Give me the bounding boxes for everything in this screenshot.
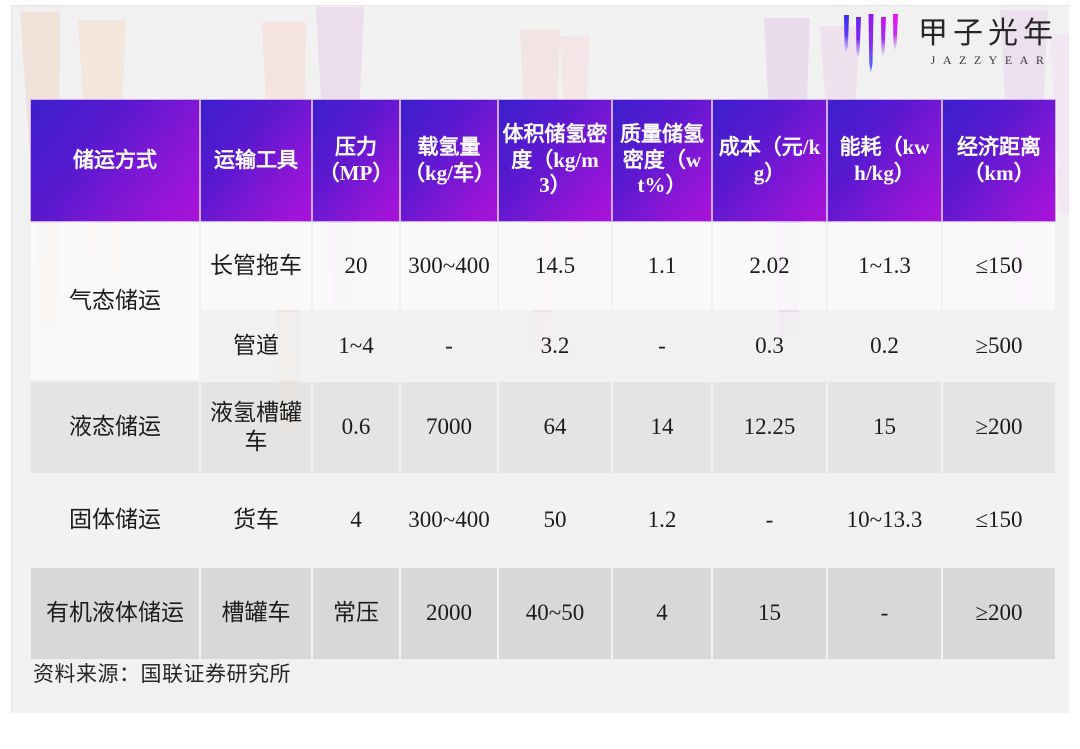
table-cell: 0.3 xyxy=(713,312,826,380)
table-cell: 2.02 xyxy=(713,223,826,310)
col-header-storage-mode: 储运方式 xyxy=(31,100,199,221)
col-header-hydrogen-load: 载氢量（kg/车） xyxy=(401,100,497,221)
table-cell: 1.2 xyxy=(613,475,711,566)
col-header-pressure: 压力（MP） xyxy=(313,100,399,221)
table-cell: - xyxy=(401,312,497,380)
table-cell: 长管拖车 xyxy=(201,223,311,310)
table-cell: 管道 xyxy=(201,312,311,380)
table-cell: 12.25 xyxy=(713,382,826,473)
table-cell: 0.2 xyxy=(828,312,941,380)
table-cell: 40~50 xyxy=(499,568,611,659)
table-cell: ≤150 xyxy=(943,223,1055,310)
table-cell: 15 xyxy=(828,382,941,473)
logo-en-name: JAZZYEAR xyxy=(925,53,1052,68)
table-row: 固体储运货车4300~400501.2-10~13.3≤150 xyxy=(31,475,1055,566)
table-cell: 0.6 xyxy=(313,382,399,473)
table-cell: 1~4 xyxy=(313,312,399,380)
table-row: 气态储运长管拖车20300~40014.51.12.021~1.3≤150 xyxy=(31,223,1055,310)
table-cell: ≤150 xyxy=(943,475,1055,566)
col-header-volume-density: 体积储氢密度（kg/m3） xyxy=(499,100,611,221)
table-cell: ≥500 xyxy=(943,312,1055,380)
cell-storage-mode: 固体储运 xyxy=(31,475,199,566)
col-header-economic-distance: 经济距离（km） xyxy=(943,100,1055,221)
col-header-cost: 成本（元/kg） xyxy=(713,100,826,221)
hydrogen-storage-table: 储运方式 运输工具 压力（MP） 载氢量（kg/车） 体积储氢密度（kg/m3）… xyxy=(29,98,1057,661)
cell-storage-mode: 液态储运 xyxy=(31,382,199,473)
jazzyear-logo-mark-icon xyxy=(838,12,904,74)
cell-storage-mode: 有机液体储运 xyxy=(31,568,199,659)
table-cell: - xyxy=(713,475,826,566)
page-hairline-top xyxy=(11,5,1069,6)
table-cell: 槽罐车 xyxy=(201,568,311,659)
slide-canvas: 甲子光年 JAZZYEAR 储运方式 运输工具 压力（MP） 载氢量（kg/车）… xyxy=(0,0,1080,749)
table-cell: 20 xyxy=(313,223,399,310)
table-cell: - xyxy=(613,312,711,380)
table-cell: 50 xyxy=(499,475,611,566)
table-cell: ≥200 xyxy=(943,568,1055,659)
page-edge-bottom xyxy=(0,713,1080,749)
table-cell: 300~400 xyxy=(401,223,497,310)
col-header-transport-tool: 运输工具 xyxy=(201,100,311,221)
cell-storage-mode: 气态储运 xyxy=(31,223,199,380)
table-cell: 14 xyxy=(613,382,711,473)
table-row: 液态储运液氢槽罐车0.67000641412.2515≥200 xyxy=(31,382,1055,473)
table-body: 气态储运长管拖车20300~40014.51.12.021~1.3≤150管道1… xyxy=(31,223,1055,659)
table-header: 储运方式 运输工具 压力（MP） 载氢量（kg/车） 体积储氢密度（kg/m3）… xyxy=(31,100,1055,221)
table-cell: 10~13.3 xyxy=(828,475,941,566)
page-edge-right xyxy=(1069,0,1080,749)
table-cell: 64 xyxy=(499,382,611,473)
table-cell: 常压 xyxy=(313,568,399,659)
col-header-energy-consumption: 能耗（kwh/kg） xyxy=(828,100,941,221)
table-cell: 7000 xyxy=(401,382,497,473)
table-cell: - xyxy=(828,568,941,659)
table-cell: 4 xyxy=(313,475,399,566)
hydrogen-storage-table-wrap: 储运方式 运输工具 压力（MP） 载氢量（kg/车） 体积储氢密度（kg/m3）… xyxy=(29,98,1047,661)
table-cell: 4 xyxy=(613,568,711,659)
page-edge-left xyxy=(0,0,11,749)
table-cell: 14.5 xyxy=(499,223,611,310)
table-cell: 货车 xyxy=(201,475,311,566)
table-header-row: 储运方式 运输工具 压力（MP） 载氢量（kg/车） 体积储氢密度（kg/m3）… xyxy=(31,100,1055,221)
table-cell: 1~1.3 xyxy=(828,223,941,310)
page-hairline-left xyxy=(11,5,12,713)
col-header-mass-density: 质量储氢密度（wt%） xyxy=(613,100,711,221)
table-cell: 2000 xyxy=(401,568,497,659)
table-cell: ≥200 xyxy=(943,382,1055,473)
table-row: 有机液体储运槽罐车常压200040~50415-≥200 xyxy=(31,568,1055,659)
table-cell: 15 xyxy=(713,568,826,659)
source-note: 资料来源：国联证券研究所 xyxy=(33,658,291,688)
table-cell: 3.2 xyxy=(499,312,611,380)
brand-logo: 甲子光年 JAZZYEAR xyxy=(838,12,1058,74)
table-cell: 300~400 xyxy=(401,475,497,566)
table-cell: 液氢槽罐车 xyxy=(201,382,311,473)
logo-cn-name: 甲子光年 xyxy=(918,18,1058,50)
table-cell: 1.1 xyxy=(613,223,711,310)
